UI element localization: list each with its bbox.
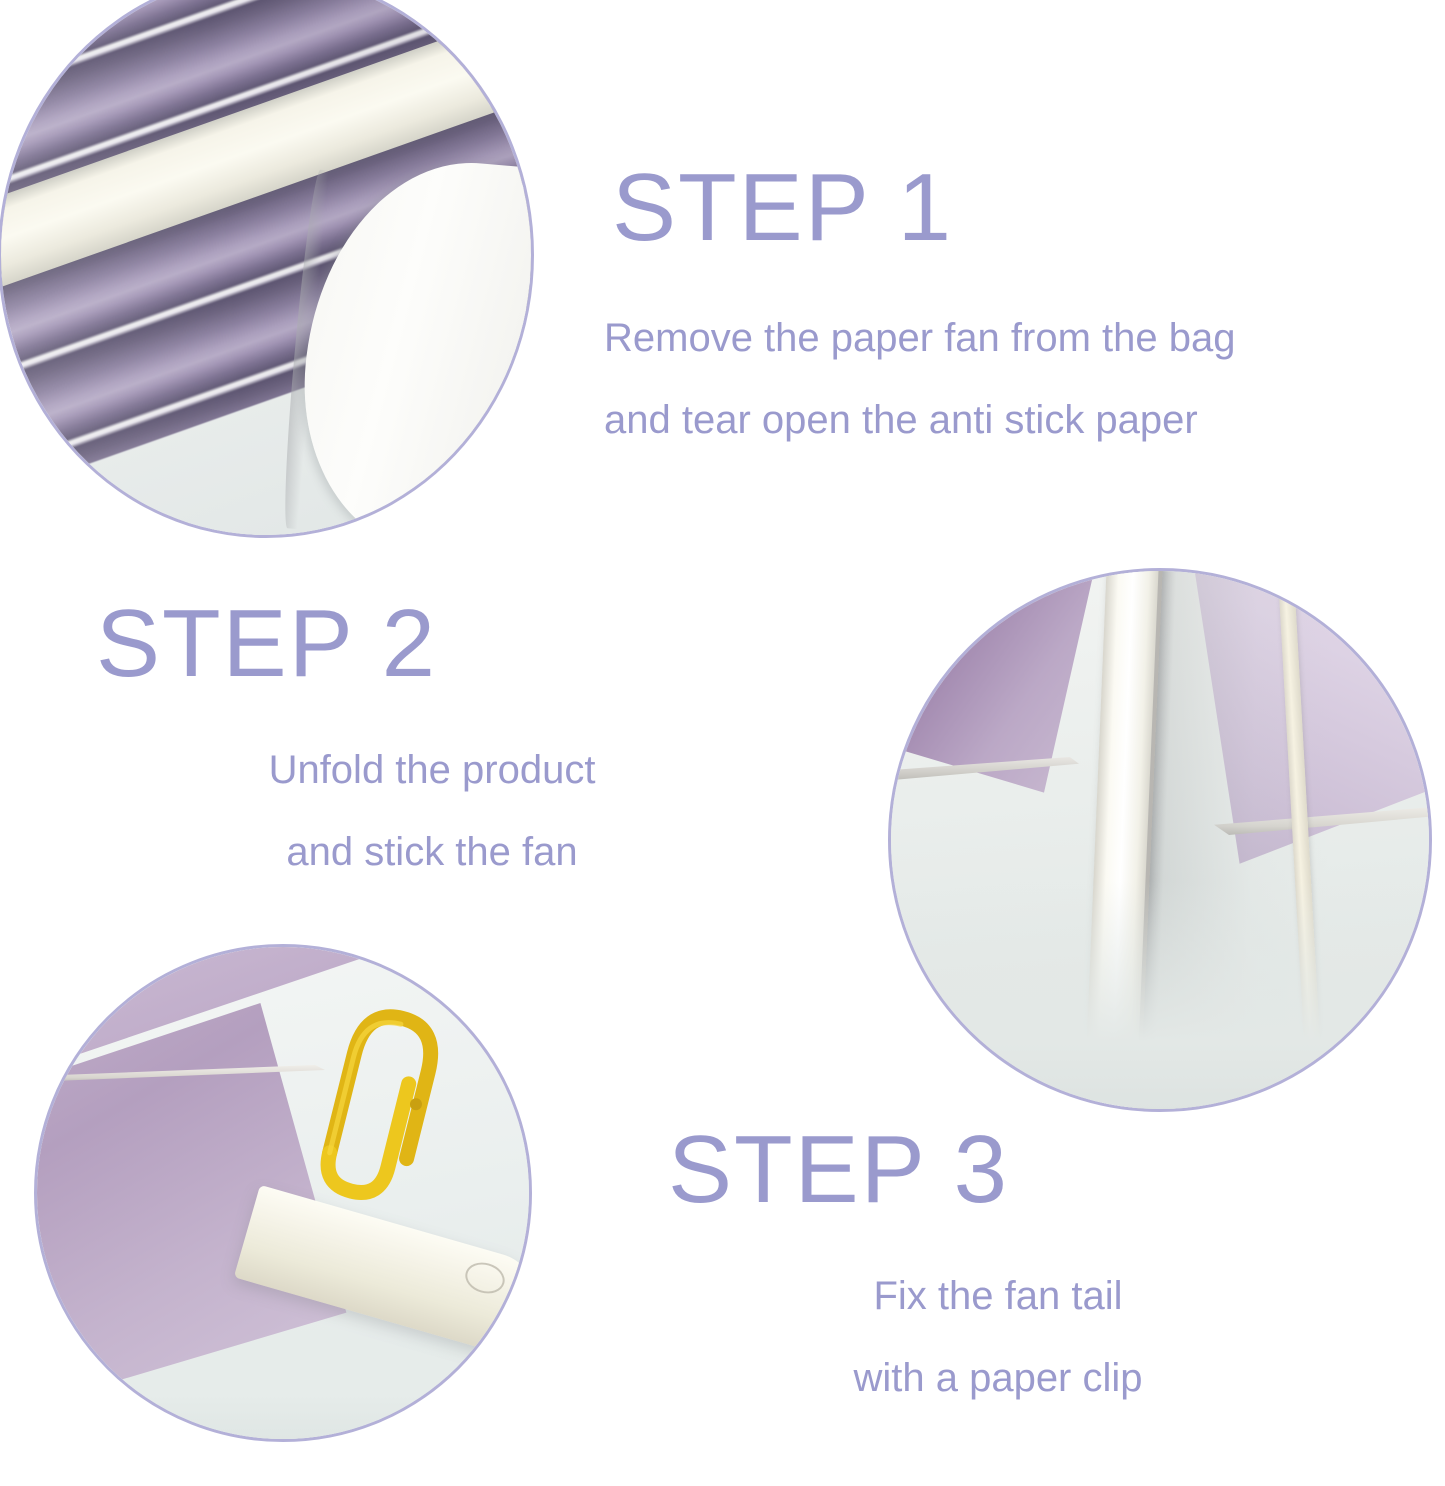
step-1-text-block: STEP 1 Remove the paper fan from the bag… <box>604 160 1416 440</box>
step-2-text-block: STEP 2 Unfold the product and stick the … <box>96 596 768 872</box>
step-3-text-block: STEP 3 Fix the fan tail with a paper cli… <box>660 1122 1336 1398</box>
step-1-title: STEP 1 <box>612 160 1416 256</box>
instruction-infographic: STEP 1 Remove the paper fan from the bag… <box>0 0 1445 1486</box>
photo-bottom-gradient <box>889 881 1431 1111</box>
step-2-line-1: Unfold the product <box>96 750 768 790</box>
step-1-line-1: Remove the paper fan from the bag <box>604 318 1416 358</box>
paper-clip-shape <box>283 946 483 1246</box>
step-1-photo-circle <box>0 0 534 538</box>
step-3-photo-circle <box>34 944 532 1442</box>
step-2-photo-circle <box>888 568 1432 1112</box>
pleated-fan-with-liner-photo <box>0 0 533 537</box>
step-1-line-2: and tear open the anti stick paper <box>604 400 1416 440</box>
step-2-title: STEP 2 <box>96 596 768 692</box>
unfolded-fan-photo <box>889 569 1431 1111</box>
step-2-line-2: and stick the fan <box>96 832 768 872</box>
step-3-line-2: with a paper clip <box>660 1358 1336 1398</box>
step-3-title: STEP 3 <box>668 1122 1336 1218</box>
paper-clip-on-tail-photo <box>35 945 531 1441</box>
step-3-line-1: Fix the fan tail <box>660 1276 1336 1316</box>
